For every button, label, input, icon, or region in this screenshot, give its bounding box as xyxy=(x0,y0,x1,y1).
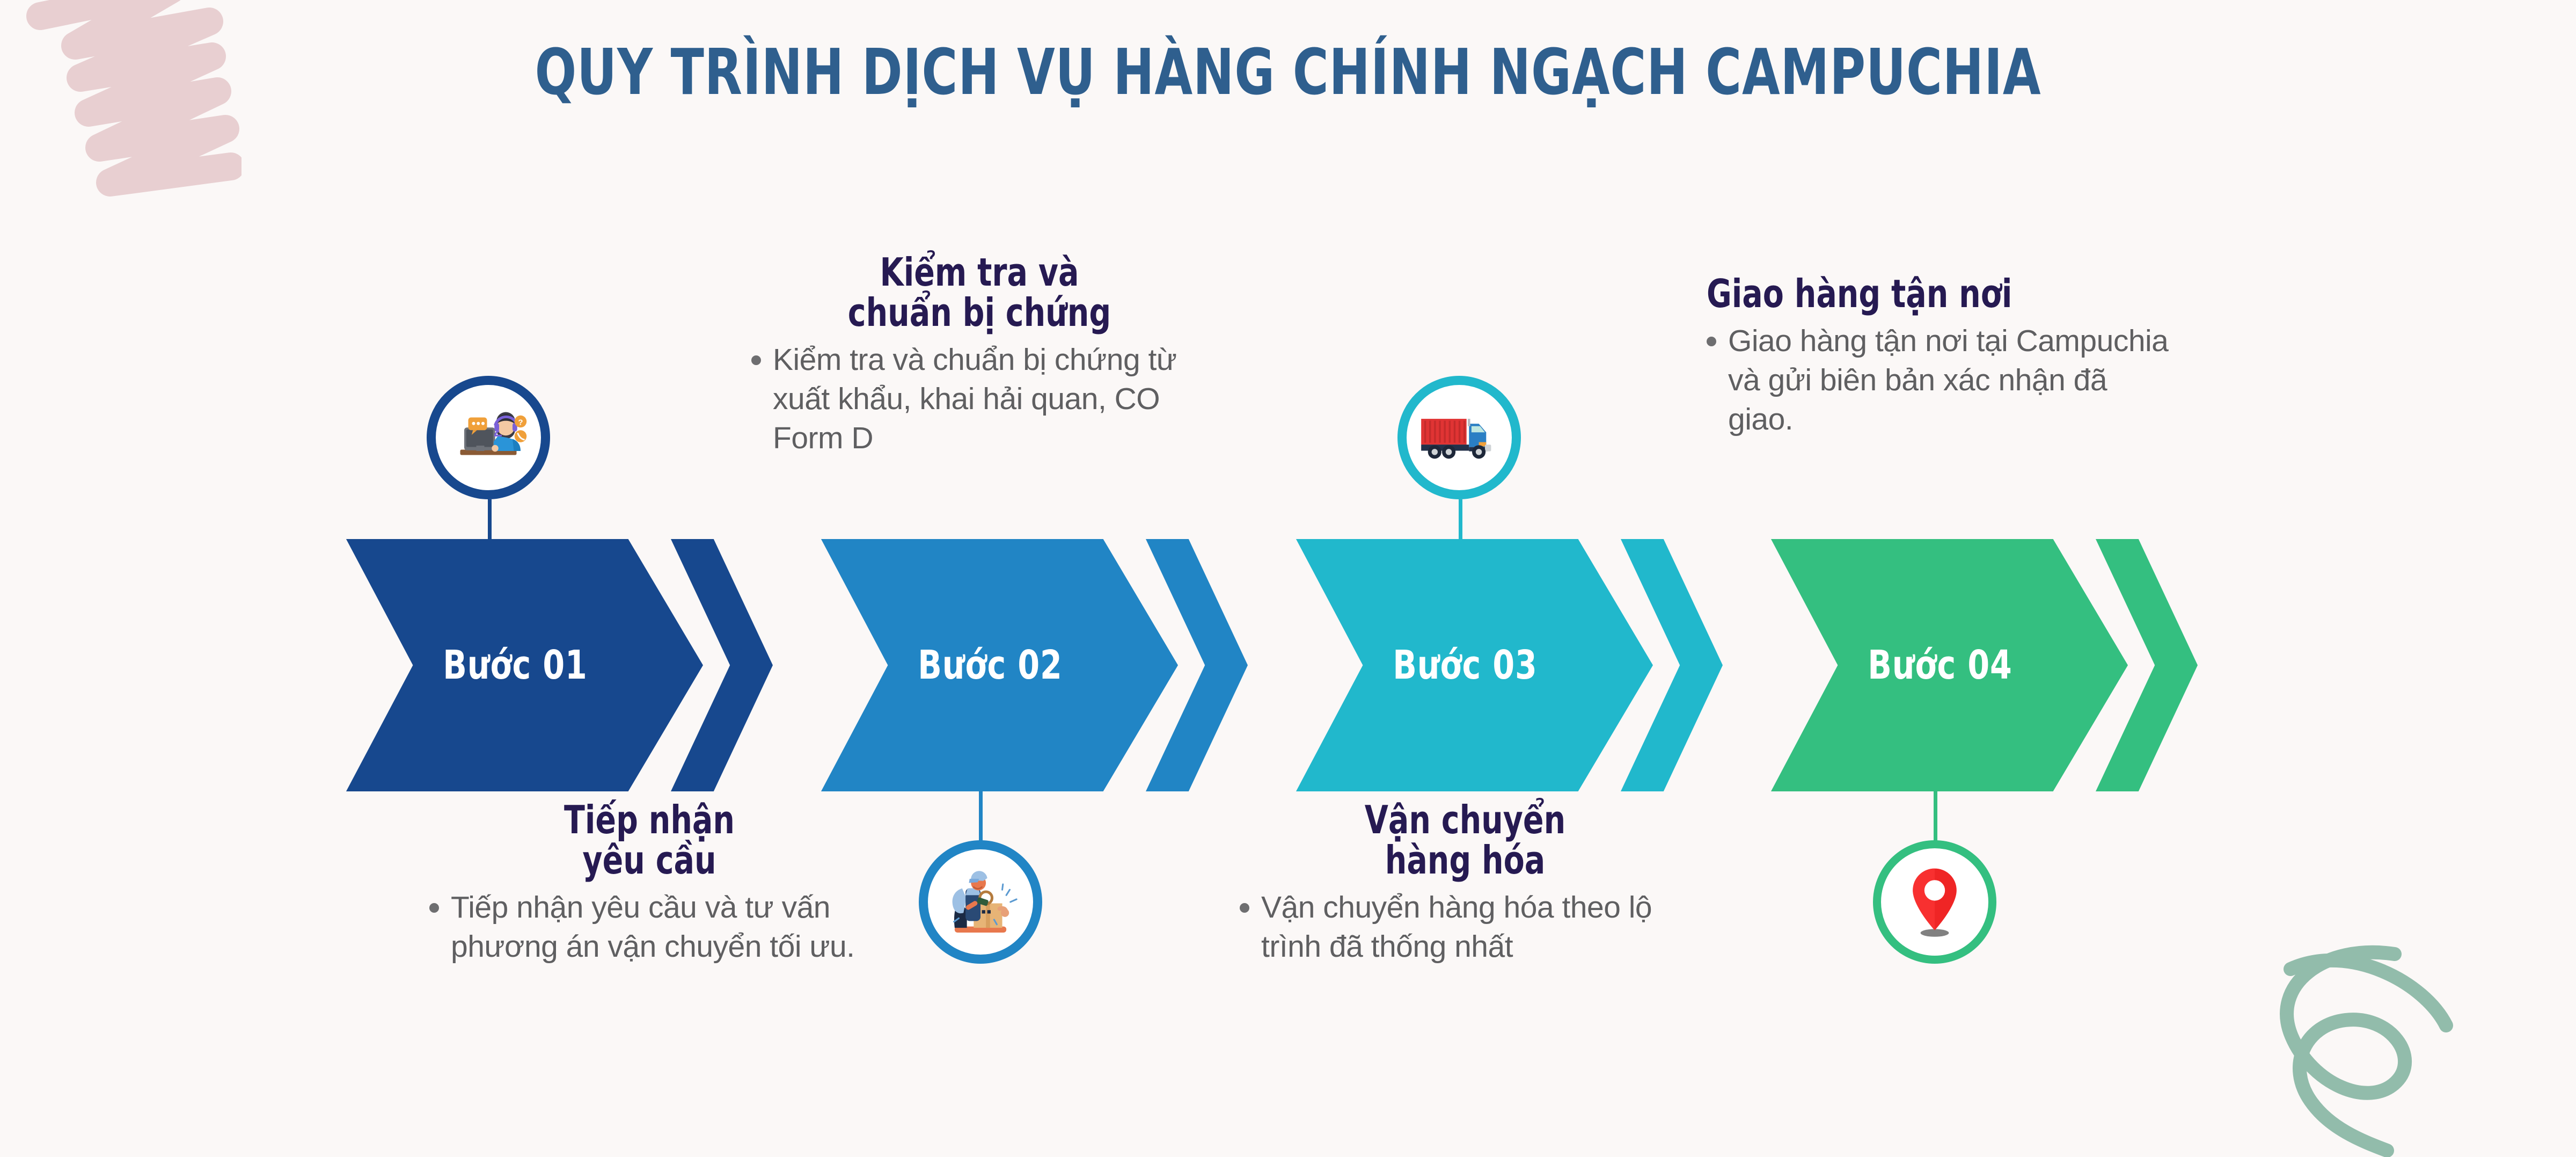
step-bullet-3: Vận chuyển hàng hóa theo lộ trình đã thố… xyxy=(1240,888,1690,966)
headset-support-agent-icon: ? xyxy=(448,397,529,478)
connector-line-1 xyxy=(488,499,492,548)
step-icon-circle-4[interactable] xyxy=(1873,840,1996,964)
step-body-2: Kiểm tra và chuẩn bị chứng từ xuất khẩu,… xyxy=(773,340,1207,458)
step-band-4[interactable]: Bước 04 xyxy=(1763,539,2192,791)
step-body-3: Vận chuyển hàng hóa theo lộ trình đã thố… xyxy=(1261,888,1690,966)
step-band-1[interactable]: Bước 01 xyxy=(338,539,767,791)
band-body-2 xyxy=(813,539,1178,791)
step-icon-circle-1[interactable]: ? xyxy=(427,376,550,499)
step-icon-circle-2[interactable] xyxy=(919,840,1042,964)
infographic-canvas: QUY TRÌNH DỊCH VỤ HÀNG CHÍNH NGẠCH CAMPU… xyxy=(0,0,2576,1141)
bullet-dot-icon xyxy=(1240,903,1249,913)
worker-inspecting-box-icon xyxy=(940,861,1021,943)
step-heading-3: Vận chuyển hàng hóa xyxy=(1267,800,1663,881)
step-icon-circle-3[interactable] xyxy=(1397,376,1521,499)
green-loop-doodle xyxy=(2254,921,2576,1157)
container-truck-icon xyxy=(1416,410,1502,465)
step-heading-1: Tiếp nhận yêu cầu xyxy=(456,800,843,881)
step-bullet-2: Kiểm tra và chuẩn bị chứng từ xuất khẩu,… xyxy=(751,340,1207,458)
step-bullet-1: Tiếp nhận yêu cầu và tư vấn phương án vậ… xyxy=(429,888,869,966)
connector-line-2 xyxy=(979,784,983,843)
band-body-3 xyxy=(1288,539,1653,791)
step-text-block-3: Vận chuyển hàng hóa Vận chuyển hàng hóa … xyxy=(1240,800,1690,966)
connector-line-4 xyxy=(1934,784,1937,843)
step-band-2[interactable]: Bước 02 xyxy=(813,539,1242,791)
bullet-dot-icon xyxy=(1707,337,1716,346)
map-pin-location-icon xyxy=(1902,863,1967,941)
step-band-3[interactable]: Bước 03 xyxy=(1288,539,1717,791)
step-text-block-2: Kiểm tra và chuẩn bị chứng Kiểm tra và c… xyxy=(751,252,1207,458)
band-body-1 xyxy=(338,539,703,791)
step-band-row: Bước 01 Bước 02 Bước 03 Bước 04 xyxy=(0,539,2576,791)
step-body-4: Giao hàng tận nơi tại Campuchia và gửi b… xyxy=(1728,322,2179,439)
step-heading-4: Giao hàng tận nơi xyxy=(1707,274,2122,314)
svg-text:?: ? xyxy=(518,418,523,427)
step-text-block-1: Tiếp nhận yêu cầu Tiếp nhận yêu cầu và t… xyxy=(429,800,869,966)
step-bullet-4: Giao hàng tận nơi tại Campuchia và gửi b… xyxy=(1707,322,2179,439)
step-heading-2: Kiểm tra và chuẩn bị chứng xyxy=(779,252,1180,333)
band-body-4 xyxy=(1763,539,2128,791)
bullet-dot-icon xyxy=(751,355,761,365)
step-text-block-4: Giao hàng tận nơi Giao hàng tận nơi tại … xyxy=(1707,274,2179,439)
page-title: QUY TRÌNH DỊCH VỤ HÀNG CHÍNH NGẠCH CAMPU… xyxy=(180,38,2396,107)
connector-line-3 xyxy=(1459,499,1462,548)
bullet-dot-icon xyxy=(429,903,439,913)
step-body-1: Tiếp nhận yêu cầu và tư vấn phương án vậ… xyxy=(451,888,869,966)
